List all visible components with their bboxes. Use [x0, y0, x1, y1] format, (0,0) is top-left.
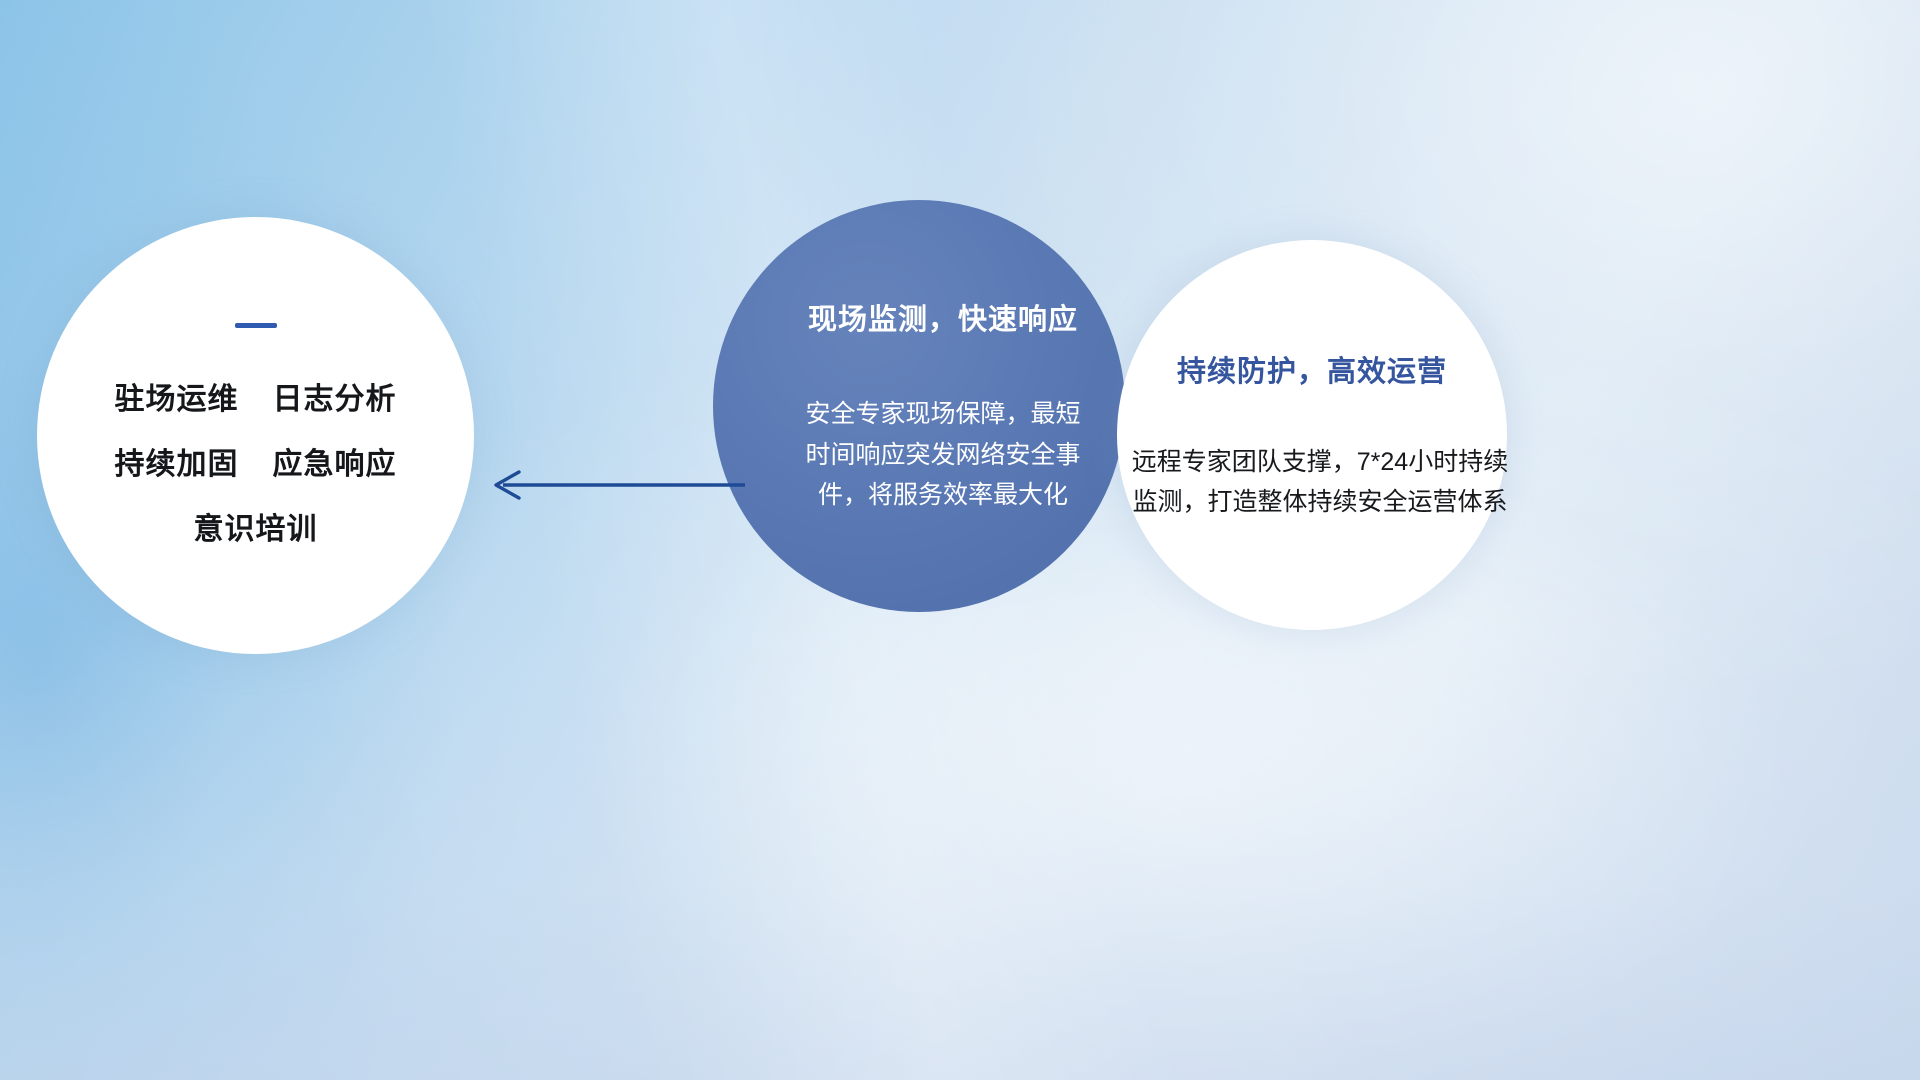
slide-canvas: 驻场运维 日志分析 持续加固 应急响应 意识培训 现场监测，快速响应 安全专家现… — [0, 0, 1920, 1080]
tag-row: 驻场运维 日志分析 — [115, 374, 397, 418]
right-circle-heading: 持续防护，高效运营 — [1177, 348, 1447, 390]
middle-circle-body: 安全专家现场保障，最短时间响应突发网络安全事件，将服务效率最大化 — [802, 394, 1084, 516]
right-operations-circle: 持续防护，高效运营 远程专家团队支撑，7*24小时持续监测，打造整体持续安全运营… — [1117, 240, 1507, 630]
tag-row: 意识培训 — [194, 504, 318, 548]
capability-tag: 意识培训 — [194, 504, 318, 548]
capability-tag: 应急响应 — [273, 439, 397, 483]
capability-tag: 日志分析 — [273, 374, 397, 418]
capability-tag-list: 驻场运维 日志分析 持续加固 应急响应 意识培训 — [115, 374, 397, 548]
right-circle-body: 远程专家团队支撑，7*24小时持续监测，打造整体持续安全运营体系 — [1131, 442, 1509, 523]
middle-onsite-circle: 现场监测，快速响应 安全专家现场保障，最短时间响应突发网络安全事件，将服务效率最… — [713, 200, 1125, 612]
middle-circle-heading: 现场监测，快速响应 — [808, 296, 1078, 338]
flow-arrow-left-icon — [487, 462, 747, 508]
capability-tag: 持续加固 — [115, 439, 239, 483]
divider-dash-icon — [235, 323, 277, 328]
capability-tag: 驻场运维 — [115, 374, 239, 418]
left-capability-circle: 驻场运维 日志分析 持续加固 应急响应 意识培训 — [37, 217, 474, 654]
tag-row: 持续加固 应急响应 — [115, 439, 397, 483]
